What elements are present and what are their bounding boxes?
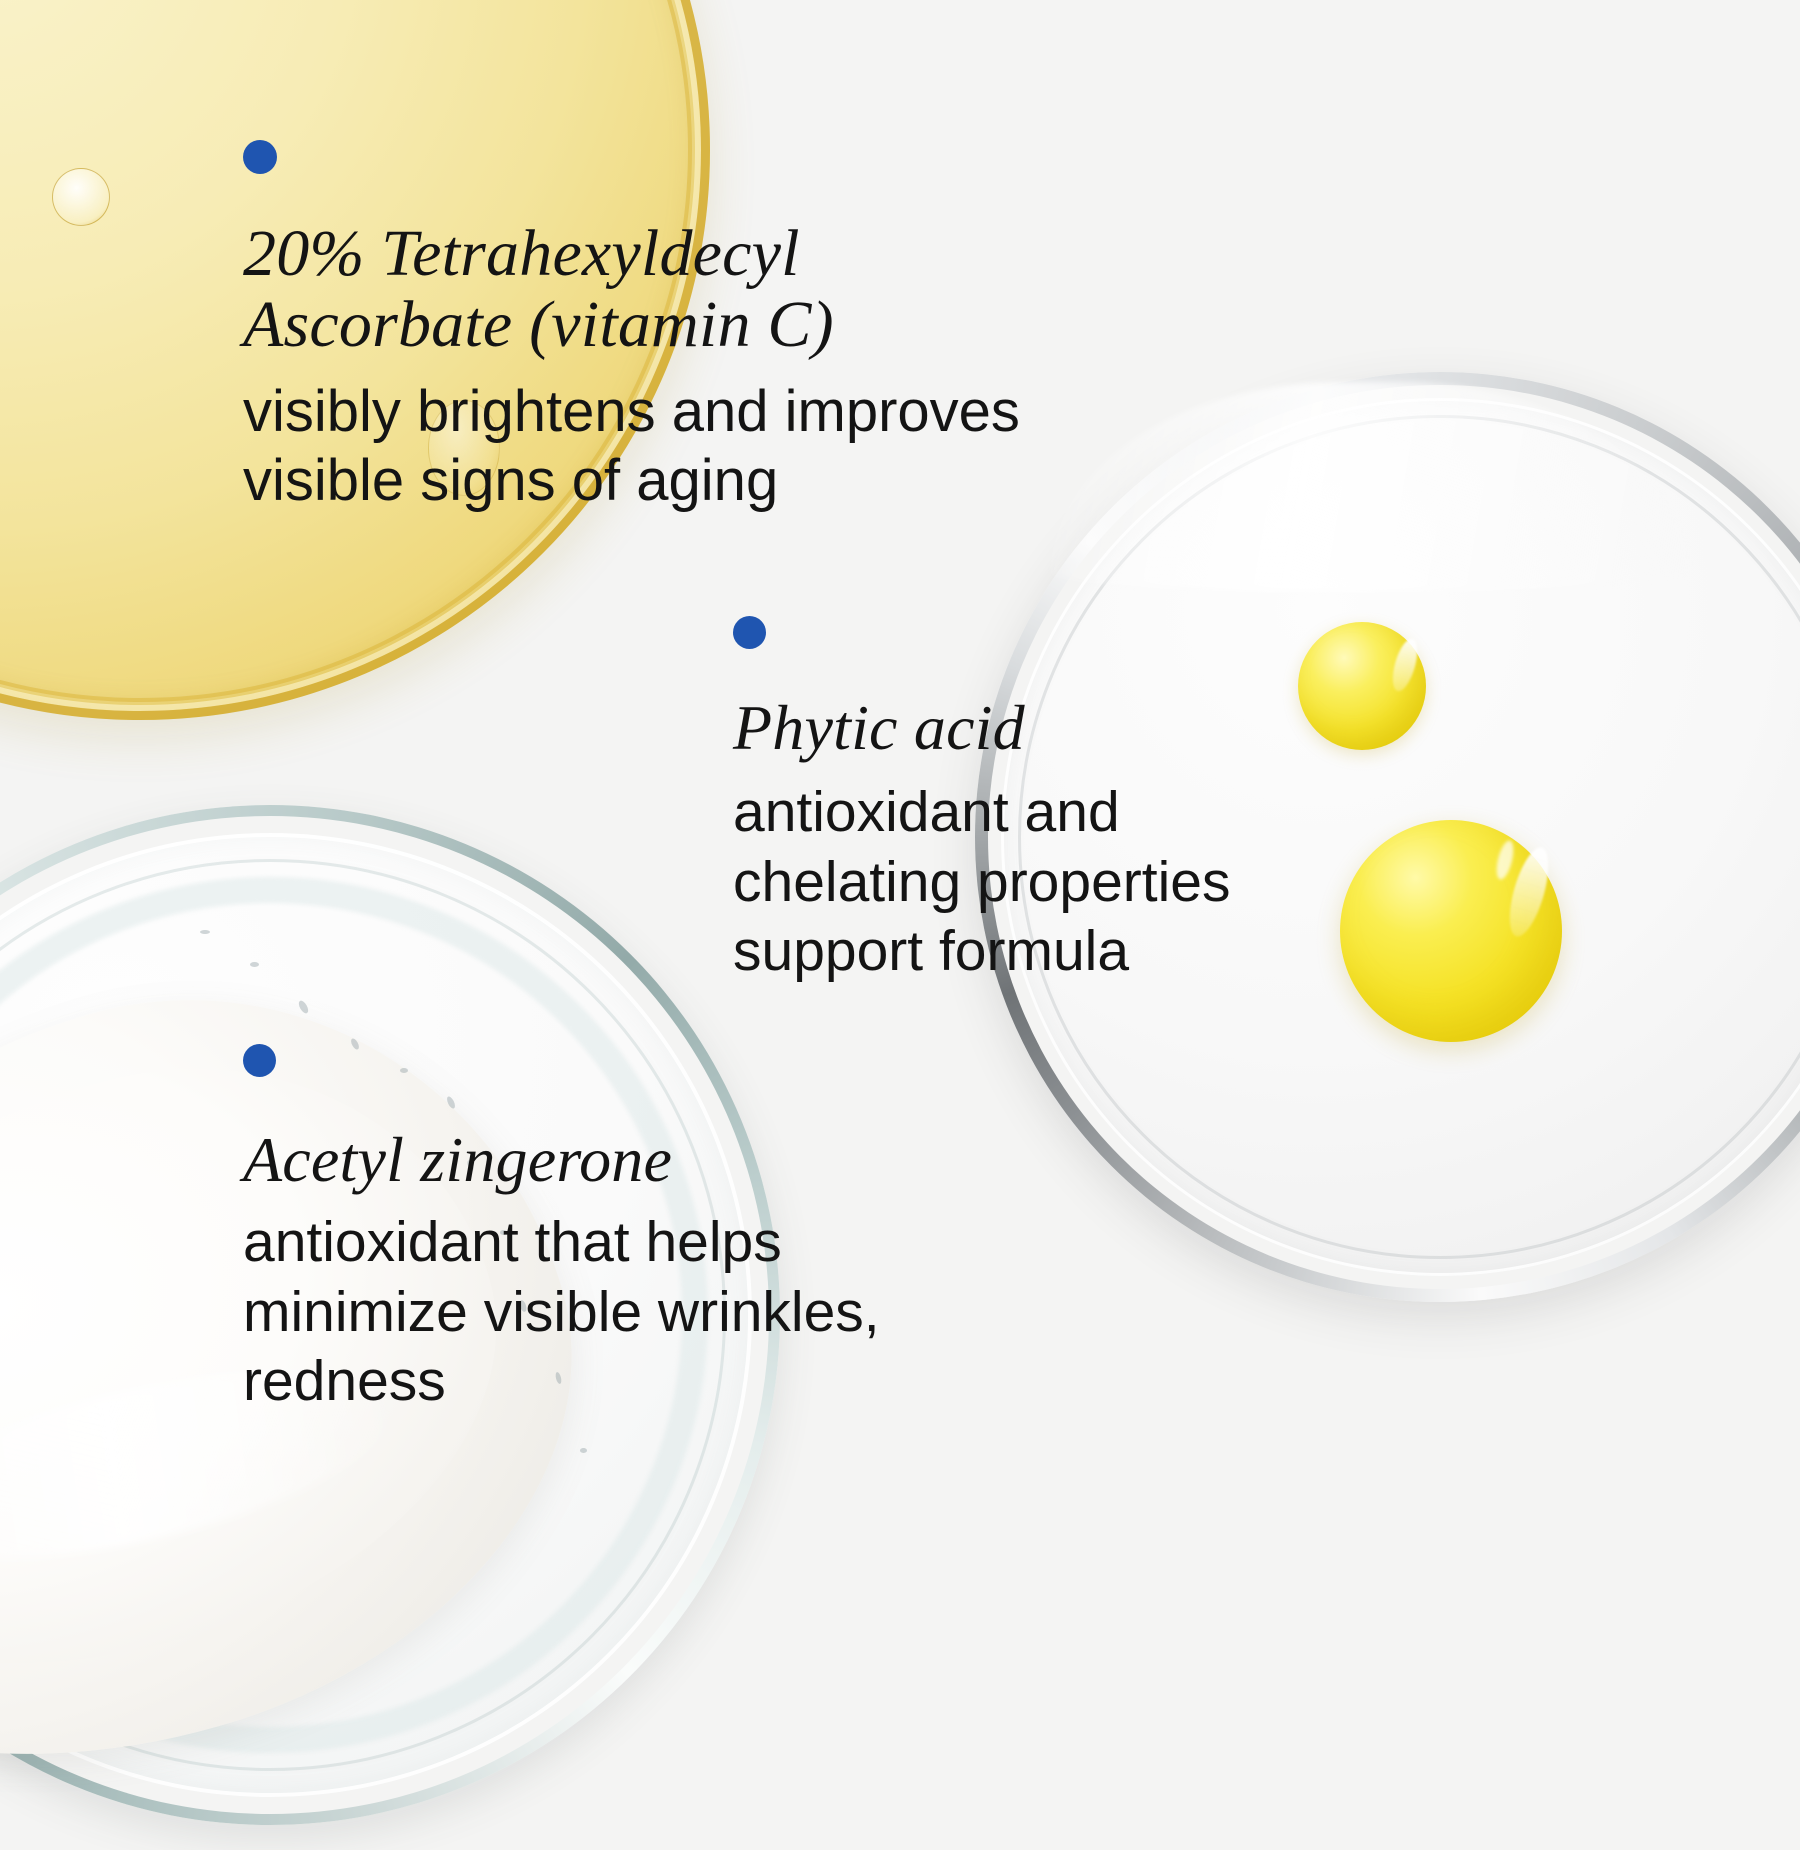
- ingredient-name-acetyl-zingerone: Acetyl zingerone: [243, 1125, 983, 1194]
- ingredient-description-acetyl-zingerone: antioxidant that helps minimize visible …: [243, 1208, 983, 1417]
- callout-vitamin-c: 20% Tetrahexyldecyl Ascorbate (vitamin C…: [243, 140, 1103, 516]
- ingredient-infographic: 20% Tetrahexyldecyl Ascorbate (vitamin C…: [0, 0, 1800, 1800]
- ingredient-description-phytic-acid: antioxidant and chelating properties sup…: [733, 778, 1333, 987]
- bullet-dot-icon: [243, 1044, 276, 1077]
- ingredient-description-vitamin-c: visibly brightens and improves visible s…: [243, 377, 1103, 516]
- callout-phytic-acid: Phytic acid antioxidant and chelating pr…: [733, 616, 1333, 987]
- ingredient-name-phytic-acid: Phytic acid: [733, 693, 1333, 762]
- callout-text-layer: 20% Tetrahexyldecyl Ascorbate (vitamin C…: [0, 0, 1800, 1800]
- callout-acetyl-zingerone: Acetyl zingerone antioxidant that helps …: [243, 1044, 983, 1417]
- ingredient-name-vitamin-c: 20% Tetrahexyldecyl Ascorbate (vitamin C…: [243, 218, 1103, 361]
- bullet-dot-icon: [733, 616, 766, 649]
- bullet-dot-icon: [243, 140, 277, 174]
